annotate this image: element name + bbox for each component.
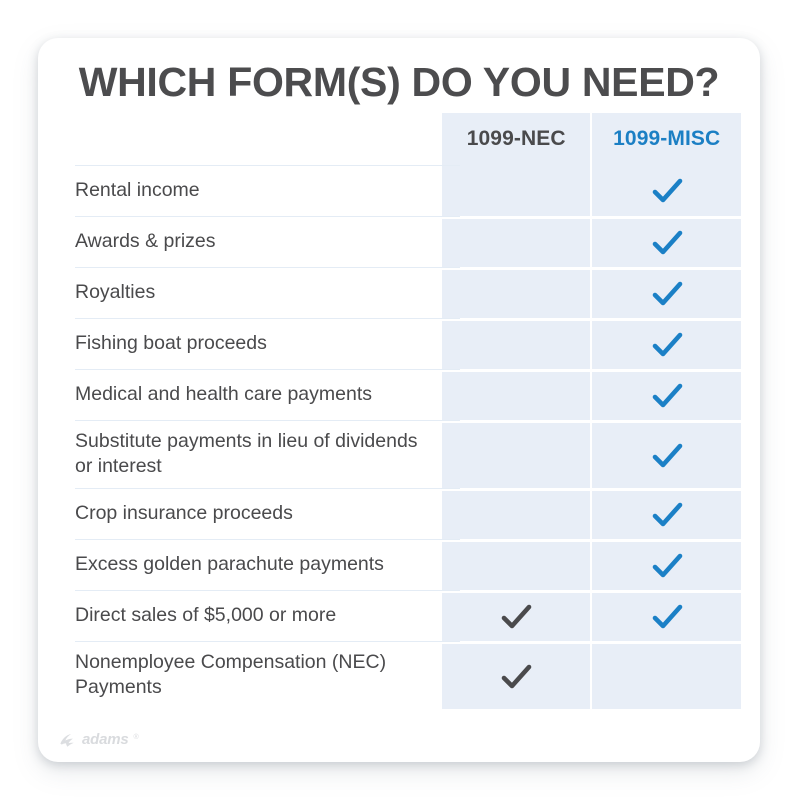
cell-nec bbox=[442, 641, 591, 709]
checkmark-icon bbox=[647, 500, 687, 530]
brand-logo: adams ® bbox=[58, 731, 139, 748]
cell-nec bbox=[442, 420, 591, 488]
table-row: Fishing boat proceeds bbox=[56, 318, 742, 369]
table-row: Rental income bbox=[56, 165, 742, 216]
row-divider bbox=[75, 216, 460, 217]
info-card: WHICH FORM(S) DO YOU NEED? 1099-NEC 1099… bbox=[38, 38, 760, 762]
cell-misc bbox=[592, 539, 741, 590]
row-divider bbox=[75, 318, 460, 319]
table-row: Awards & prizes bbox=[56, 216, 742, 267]
table-header-row: 1099-NEC 1099-MISC bbox=[56, 113, 742, 165]
row-label: Excess golden parachute payments bbox=[56, 539, 441, 590]
table-row: Medical and health care payments bbox=[56, 369, 742, 420]
row-label: Rental income bbox=[56, 165, 441, 216]
checkmark-icon bbox=[496, 662, 536, 692]
row-divider bbox=[75, 420, 460, 421]
row-label: Crop insurance proceeds bbox=[56, 488, 441, 539]
brand-trademark: ® bbox=[134, 734, 139, 741]
checkmark-icon bbox=[647, 551, 687, 581]
cell-nec bbox=[442, 165, 591, 216]
cell-nec bbox=[442, 539, 591, 590]
checkmark-icon bbox=[496, 602, 536, 632]
column-header-nec: 1099-NEC bbox=[467, 127, 566, 151]
cell-nec bbox=[442, 318, 591, 369]
forms-comparison-table: 1099-NEC 1099-MISC Rental incomeAwards &… bbox=[56, 113, 742, 709]
cell-nec bbox=[442, 488, 591, 539]
cell-misc bbox=[592, 216, 741, 267]
cell-nec bbox=[442, 267, 591, 318]
cell-nec bbox=[442, 369, 591, 420]
cell-misc bbox=[592, 267, 741, 318]
checkmark-icon bbox=[647, 279, 687, 309]
cell-misc bbox=[592, 318, 741, 369]
checkmark-icon bbox=[647, 330, 687, 360]
row-label: Awards & prizes bbox=[56, 216, 441, 267]
row-divider bbox=[75, 641, 460, 642]
brand-name: adams bbox=[82, 731, 129, 748]
cell-misc bbox=[592, 420, 741, 488]
table-row: Direct sales of $5,000 or more bbox=[56, 590, 742, 641]
row-label: Medical and health care payments bbox=[56, 369, 441, 420]
table-row: Substitute payments in lieu of dividends… bbox=[56, 420, 742, 488]
row-divider bbox=[75, 267, 460, 268]
page-root: WHICH FORM(S) DO YOU NEED? 1099-NEC 1099… bbox=[0, 0, 800, 800]
row-divider bbox=[75, 539, 460, 540]
row-label: Substitute payments in lieu of dividends… bbox=[56, 420, 441, 488]
cell-nec bbox=[442, 216, 591, 267]
table-body: Rental incomeAwards & prizesRoyaltiesFis… bbox=[56, 165, 742, 709]
card-inner: WHICH FORM(S) DO YOU NEED? 1099-NEC 1099… bbox=[38, 38, 760, 762]
cell-misc bbox=[592, 369, 741, 420]
row-label: Direct sales of $5,000 or more bbox=[56, 590, 441, 641]
page-title: WHICH FORM(S) DO YOU NEED? bbox=[38, 58, 760, 106]
checkmark-icon bbox=[647, 381, 687, 411]
checkmark-icon bbox=[647, 176, 687, 206]
table-row: Nonemployee Compensation (NEC) Payments bbox=[56, 641, 742, 709]
table-row: Royalties bbox=[56, 267, 742, 318]
checkmark-icon bbox=[647, 228, 687, 258]
header-cell-misc: 1099-MISC bbox=[592, 113, 741, 165]
checkmark-icon bbox=[647, 602, 687, 632]
cell-misc bbox=[592, 590, 741, 641]
adams-a-logo-icon bbox=[58, 732, 77, 747]
cell-nec bbox=[442, 590, 591, 641]
cell-misc bbox=[592, 488, 741, 539]
row-divider bbox=[75, 590, 460, 591]
row-divider bbox=[75, 165, 460, 166]
header-label-cell bbox=[56, 113, 441, 165]
column-header-misc: 1099-MISC bbox=[613, 127, 720, 151]
table-row: Crop insurance proceeds bbox=[56, 488, 742, 539]
cell-misc bbox=[592, 641, 741, 709]
cell-misc bbox=[592, 165, 741, 216]
checkmark-icon bbox=[647, 441, 687, 471]
row-label: Royalties bbox=[56, 267, 441, 318]
row-divider bbox=[75, 488, 460, 489]
row-label: Nonemployee Compensation (NEC) Payments bbox=[56, 641, 441, 709]
header-cell-nec: 1099-NEC bbox=[442, 113, 591, 165]
table-row: Excess golden parachute payments bbox=[56, 539, 742, 590]
row-label: Fishing boat proceeds bbox=[56, 318, 441, 369]
row-divider bbox=[75, 369, 460, 370]
